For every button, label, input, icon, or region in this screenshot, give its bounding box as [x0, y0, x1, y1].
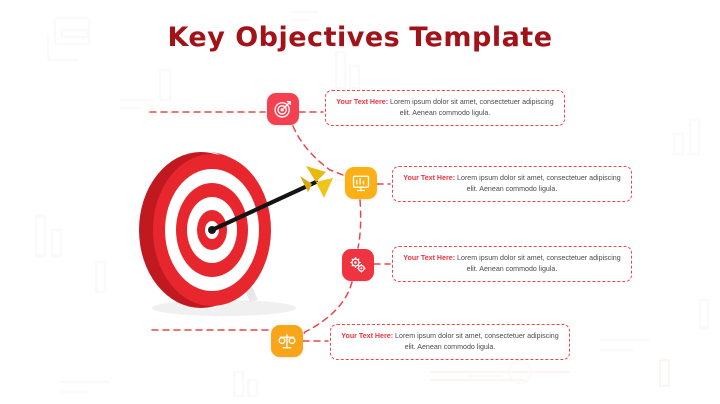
text-box-4[interactable]: Your Text Here: Lorem ipsum dolor sit am…: [330, 324, 570, 360]
dartboard-target-icon: [128, 142, 343, 322]
icon-chip-balance[interactable]: [271, 325, 303, 357]
text-box-2[interactable]: Your Text Here: Lorem ipsum dolor sit am…: [392, 166, 632, 202]
text-box-2-body: Lorem ipsum dolor sit amet, consectetuer…: [455, 174, 621, 193]
text-box-3-content: Your Text Here: Lorem ipsum dolor sit am…: [403, 253, 621, 276]
text-box-1-content: Your Text Here: Lorem ipsum dolor sit am…: [336, 97, 554, 120]
slide-canvas: Key ObjectivesTemplate: [0, 0, 720, 404]
text-box-3-body: Lorem ipsum dolor sit amet, consectetuer…: [455, 254, 621, 273]
text-box-3[interactable]: Your Text Here: Lorem ipsum dolor sit am…: [392, 246, 632, 282]
text-box-2-lead: Your Text Here:: [403, 174, 455, 182]
gears-settings-icon: [348, 255, 368, 275]
text-box-4-lead: Your Text Here:: [341, 332, 393, 340]
text-box-4-body: Lorem ipsum dolor sit amet, consectetuer…: [393, 332, 559, 351]
text-box-2-content: Your Text Here: Lorem ipsum dolor sit am…: [403, 173, 621, 196]
target-icon: [273, 99, 293, 119]
presentation-chart-icon: [351, 173, 371, 193]
text-box-1[interactable]: Your Text Here: Lorem ipsum dolor sit am…: [325, 90, 565, 126]
page-title: Key ObjectivesTemplate: [0, 22, 720, 53]
icon-chip-gears[interactable]: [342, 249, 374, 281]
balance-scale-icon: [277, 331, 297, 351]
text-box-4-content: Your Text Here: Lorem ipsum dolor sit am…: [341, 331, 559, 354]
text-box-1-lead: Your Text Here:: [336, 98, 388, 106]
page-title-part1: Key Objectives: [167, 22, 400, 53]
icon-chip-target[interactable]: [267, 93, 299, 125]
connector-chip2-to-chip3: [358, 200, 361, 248]
text-box-1-body: Lorem ipsum dolor sit amet, consectetuer…: [388, 98, 554, 117]
page-title-part2: Template: [409, 22, 552, 53]
text-box-3-lead: Your Text Here:: [403, 254, 455, 262]
icon-chip-presentation[interactable]: [345, 167, 377, 199]
